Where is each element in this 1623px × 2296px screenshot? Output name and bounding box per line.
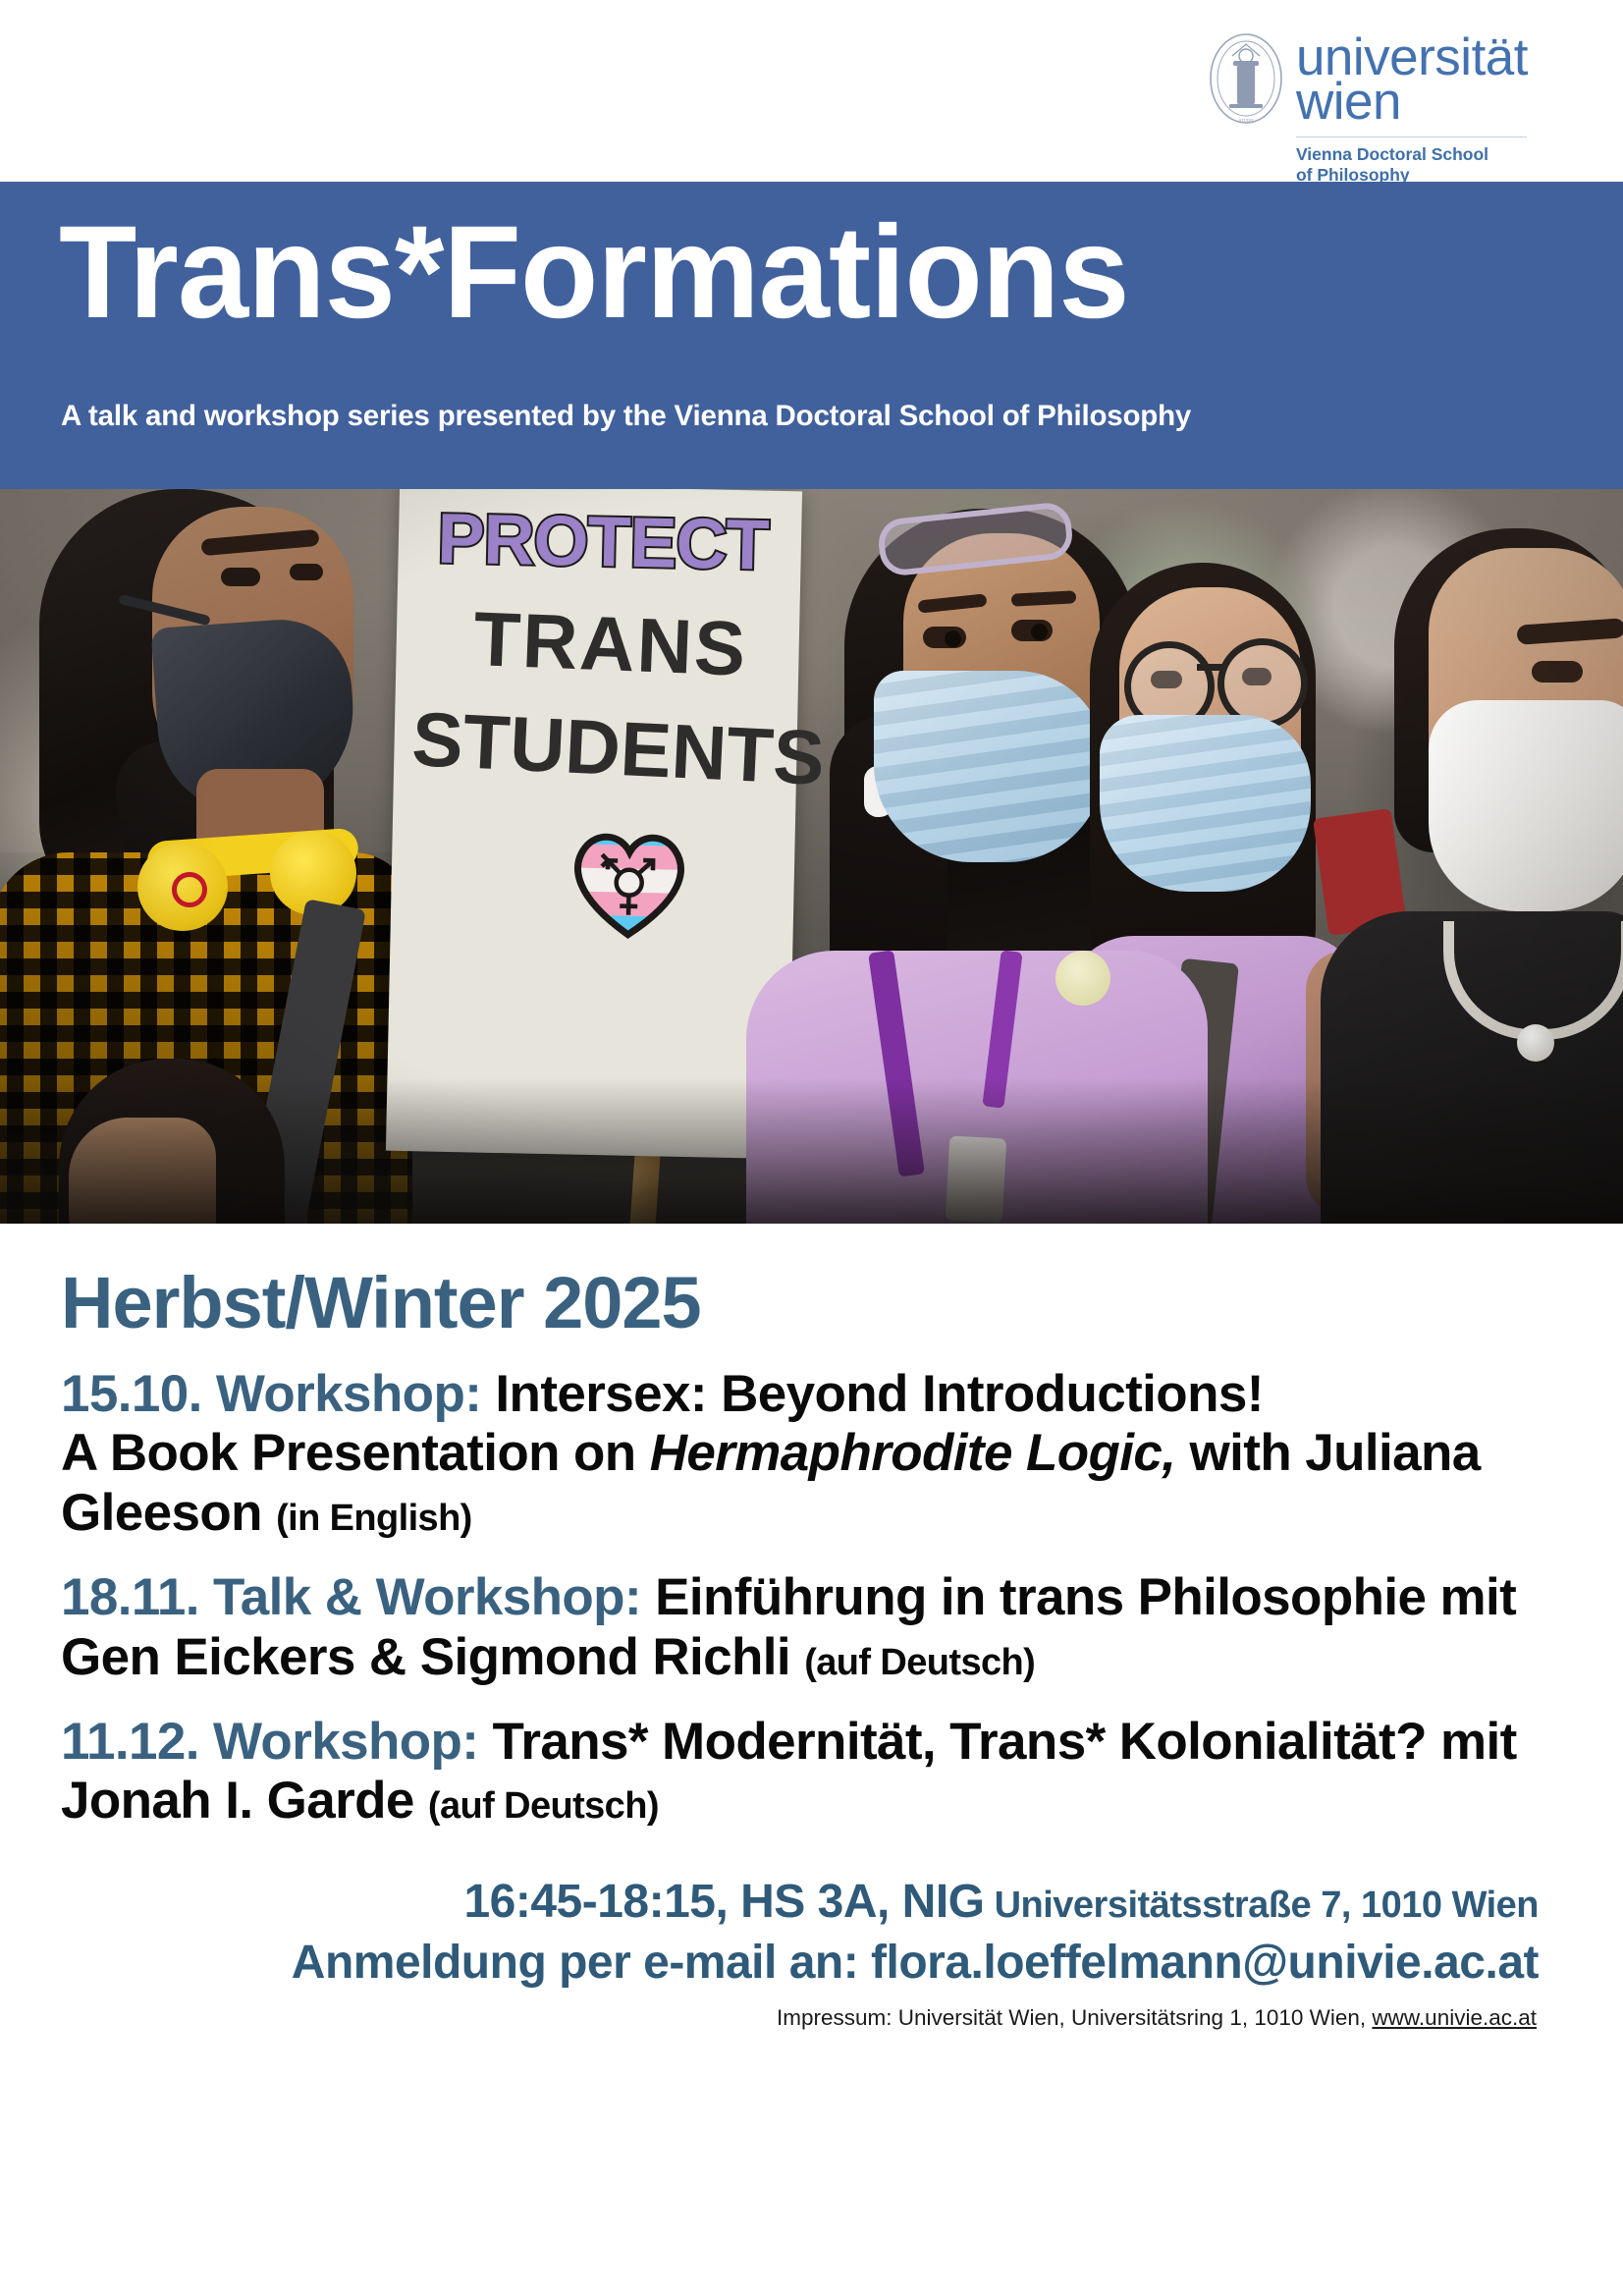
photo-bottom-fade	[0, 1078, 1623, 1224]
impressum-url[interactable]: www.univie.ac.at	[1372, 2005, 1537, 2030]
protest-photo: PROTECT TRANS STUDENTS	[0, 489, 1623, 1224]
time-venue-line: 16:45-18:15, HS 3A, NIG Universitätsstra…	[0, 1875, 1539, 1930]
programme-entry-1: 15.10. Workshop: Intersex: Beyond Introd…	[61, 1365, 1573, 1543]
season-heading: Herbst/Winter 2025	[61, 1267, 1623, 1339]
programme-entry-3: 11.12. Workshop: Trans* Modernität, Tran…	[61, 1713, 1573, 1831]
entry-1-detail-pre: A Book Presentation on	[61, 1424, 650, 1482]
entry-1-title: Intersex: Beyond Introductions!	[495, 1365, 1263, 1423]
entry-2-date: 18.11. Talk & Workshop:	[61, 1568, 641, 1626]
logo-doctoral-school: Vienna Doctoral School of Philosophy	[1296, 137, 1527, 187]
entry-1-book-title: Hermaphrodite Logic,	[650, 1424, 1176, 1482]
poster-title: Trans*Formations	[59, 207, 1129, 339]
protest-placard: PROTECT TRANS STUDENTS	[386, 489, 802, 1159]
entry-1-language: (in English)	[276, 1498, 472, 1539]
person-center-pupil-right	[1031, 624, 1048, 640]
round-glasses-bridge-icon	[1197, 664, 1222, 671]
person-right-white-mask	[1429, 700, 1623, 911]
university-logo: · · · · · · STUDII · universität wien Vi…	[1208, 31, 1528, 187]
person-right-pendant	[1517, 1024, 1554, 1062]
impressum-text: Impressum: Universität Wien, Universität…	[777, 2005, 1372, 2030]
programme-entry-2: 18.11. Talk & Workshop: Einführung in tr…	[61, 1568, 1573, 1687]
programme-content: Herbst/Winter 2025 15.10. Workshop: Inte…	[0, 1224, 1623, 2031]
svg-text:· STUDII ·: · STUDII ·	[1236, 118, 1256, 123]
footer-block: 16:45-18:15, HS 3A, NIG Universitätsstra…	[0, 1875, 1623, 1990]
entry-1-date: 15.10. Workshop:	[61, 1365, 481, 1423]
title-banner: Trans*Formations A talk and workshop ser…	[0, 182, 1623, 489]
venue-address: Universitätsstraße 7, 1010 Wien	[985, 1885, 1539, 1926]
logo-university-line2: wien	[1296, 76, 1528, 128]
logo-school-line1: Vienna Doctoral School	[1296, 144, 1527, 165]
person-left-eye-2	[290, 564, 323, 580]
person-right-eye	[1532, 661, 1583, 683]
person-center-pupil-left	[945, 630, 961, 647]
time-venue: 16:45-18:15, HS 3A, NIG	[463, 1876, 984, 1928]
svg-text:· · · · ·: · · · · ·	[1240, 37, 1252, 42]
person-center-surgical-mask	[874, 671, 1105, 862]
person-left-eye	[221, 568, 260, 586]
button-pin-badge	[1055, 951, 1110, 1006]
placard-line-3: STUDENTS	[410, 702, 796, 793]
impressum-line: Impressum: Universität Wien, Universität…	[0, 2005, 1623, 2031]
headphones-logo-icon	[172, 872, 207, 907]
entry-3-date: 11.12. Workshop:	[61, 1713, 478, 1771]
university-seal-icon: · · · · · · STUDII ·	[1208, 31, 1284, 126]
placard-line-2: TRANS	[423, 600, 799, 687]
placard-line-1: PROTECT	[415, 505, 789, 579]
logo-bar: · · · · · · STUDII · universität wien Vi…	[0, 0, 1623, 182]
entry-2-language: (auf Deutsch)	[804, 1642, 1035, 1683]
registration-line[interactable]: Anmeldung per e-mail an: flora.loeffelma…	[0, 1936, 1539, 1991]
person-glasses-surgical-mask	[1100, 715, 1311, 892]
poster-subtitle: A talk and workshop series presented by …	[61, 400, 1191, 433]
trans-flag-heart-icon	[565, 820, 692, 941]
poster: · · · · · · STUDII · universität wien Vi…	[0, 0, 1623, 2296]
entry-3-language: (auf Deutsch)	[428, 1785, 659, 1827]
